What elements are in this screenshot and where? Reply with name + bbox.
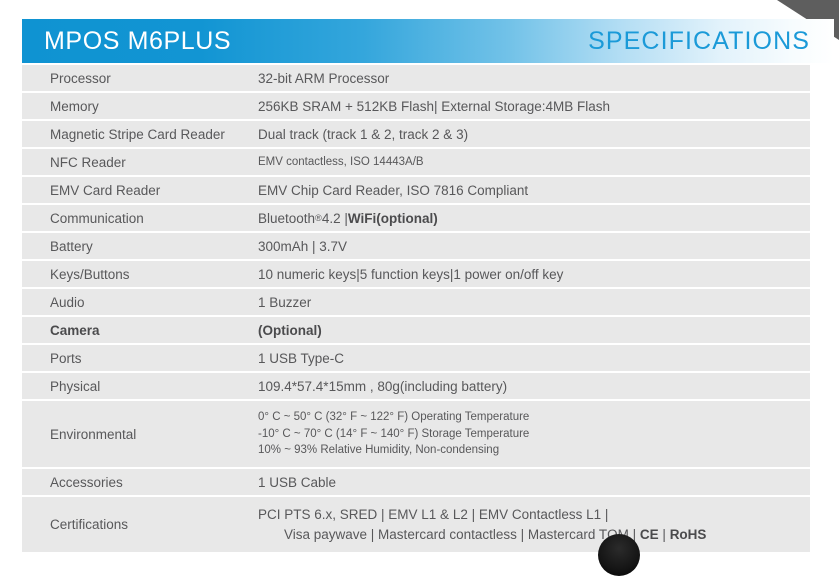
table-row: Battery 300mAh | 3.7V [22, 233, 810, 261]
spec-value: 1 USB Cable [250, 469, 810, 495]
spec-label: NFC Reader [22, 149, 250, 175]
spec-value: 32-bit ARM Processor [250, 65, 810, 91]
table-row: Accessories 1 USB Cable [22, 469, 810, 497]
table-row: Audio 1 Buzzer [22, 289, 810, 317]
spec-label: Camera [22, 317, 250, 343]
spec-value: EMV Chip Card Reader, ISO 7816 Compliant [250, 177, 810, 203]
table-row: Ports 1 USB Type-C [22, 345, 810, 373]
spec-label: Keys/Buttons [22, 261, 250, 287]
specification-sheet: MPOS M6PLUS SPECIFICATIONS Processor 32-… [0, 0, 839, 544]
certifications-line-2: Visa paywave | Mastercard contactless | … [258, 525, 802, 545]
spec-label: Magnetic Stripe Card Reader [22, 121, 250, 147]
spec-value: EMV contactless, ISO 14443A/B [250, 149, 810, 175]
wifi-option: WiFi(optional) [348, 211, 438, 226]
specifications-table: Processor 32-bit ARM Processor Memory 25… [22, 65, 810, 552]
ce-mark: CE [640, 527, 659, 542]
spec-value: 256KB SRAM + 512KB Flash| External Stora… [250, 93, 810, 119]
operating-temperature-line: 0° C ~ 50° C (32° F ~ 122° F) Operating … [258, 409, 802, 426]
page-title: MPOS M6PLUS [44, 27, 231, 56]
spec-value: 10 numeric keys|5 function keys|1 power … [250, 261, 810, 287]
table-row: Communication Bluetooth®4.2 | WiFi(optio… [22, 205, 810, 233]
spec-value: 1 Buzzer [250, 289, 810, 315]
table-row: NFC Reader EMV contactless, ISO 14443A/B [22, 149, 810, 177]
table-row: Environmental 0° C ~ 50° C (32° F ~ 122°… [22, 401, 810, 469]
certifications-line-1: PCI PTS 6.x, SRED | EMV L1 & L2 | EMV Co… [258, 505, 802, 525]
spec-value: Dual track (track 1 & 2, track 2 & 3) [250, 121, 810, 147]
document-type-title: SPECIFICATIONS [588, 27, 810, 56]
humidity-line: 10% ~ 93% Relative Humidity, Non-condens… [258, 442, 802, 459]
spec-label: Processor [22, 65, 250, 91]
table-row: Keys/Buttons 10 numeric keys|5 function … [22, 261, 810, 289]
spec-value: Bluetooth®4.2 | WiFi(optional) [250, 205, 810, 231]
bottom-circle-decoration [598, 534, 640, 576]
spec-value: (Optional) [250, 317, 810, 343]
table-row: Camera (Optional) [22, 317, 810, 345]
table-row: Processor 32-bit ARM Processor [22, 65, 810, 93]
rohs-mark: RoHS [670, 527, 707, 542]
spec-label: Environmental [22, 401, 250, 467]
bluetooth-text: Bluetooth [258, 211, 315, 226]
spec-label: Ports [22, 345, 250, 371]
table-row: Magnetic Stripe Card Reader Dual track (… [22, 121, 810, 149]
spec-label: EMV Card Reader [22, 177, 250, 203]
certifications-brands: Visa paywave | Mastercard contactless | … [284, 527, 640, 542]
spec-value: 1 USB Type-C [250, 345, 810, 371]
spec-label: Accessories [22, 469, 250, 495]
spec-label: Audio [22, 289, 250, 315]
header-band: MPOS M6PLUS SPECIFICATIONS [22, 19, 834, 63]
spec-label: Communication [22, 205, 250, 231]
spec-value: 0° C ~ 50° C (32° F ~ 122° F) Operating … [250, 401, 810, 467]
table-row: Memory 256KB SRAM + 512KB Flash| Externa… [22, 93, 810, 121]
spec-value: 300mAh | 3.7V [250, 233, 810, 259]
spec-label: Memory [22, 93, 250, 119]
certifications-separator: | [659, 527, 670, 542]
table-row: Physical 109.4*57.4*15mm , 80g(including… [22, 373, 810, 401]
table-row: EMV Card Reader EMV Chip Card Reader, IS… [22, 177, 810, 205]
storage-temperature-line: -10° C ~ 70° C (14° F ~ 140° F) Storage … [258, 426, 802, 443]
spec-label: Battery [22, 233, 250, 259]
bluetooth-version: 4.2 | [322, 211, 348, 226]
spec-value: 109.4*57.4*15mm , 80g(including battery) [250, 373, 810, 399]
spec-label: Physical [22, 373, 250, 399]
